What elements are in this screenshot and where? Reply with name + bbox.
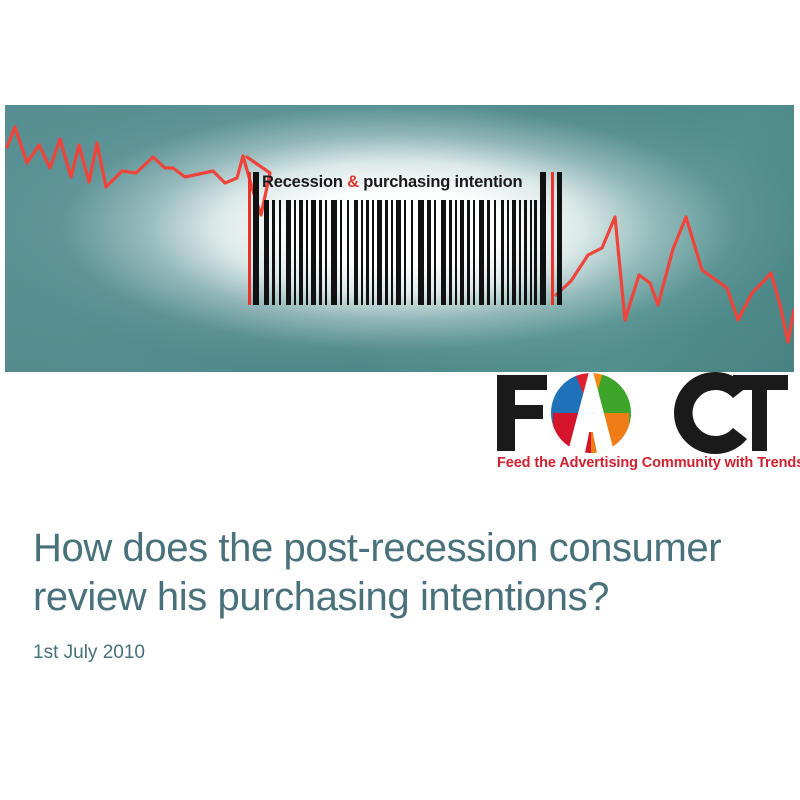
title-block: How does the post-recession consumer rev… bbox=[33, 524, 763, 664]
logo-tagline: Feed the Advertising Community with Tren… bbox=[497, 455, 789, 471]
logo-letter-a bbox=[539, 372, 645, 454]
page-title-line-1: How does the post-recession consumer bbox=[33, 524, 763, 573]
barcode-graphic: Recession & purchasing intention bbox=[248, 172, 562, 305]
fact-wordmark-icon bbox=[493, 372, 788, 454]
page-title-line-2: review his purchasing intentions? bbox=[33, 573, 763, 622]
banner-image: Recession & purchasing intention bbox=[5, 105, 794, 372]
slide-date: 1st July 2010 bbox=[33, 642, 763, 664]
fact-logo: Feed the Advertising Community with Tren… bbox=[493, 372, 788, 477]
logo-letter-f bbox=[497, 375, 547, 451]
slide-root: Recession & purchasing intention bbox=[0, 0, 800, 800]
barcode-bars-icon bbox=[248, 172, 562, 305]
page-title: How does the post-recession consumer rev… bbox=[33, 524, 763, 622]
